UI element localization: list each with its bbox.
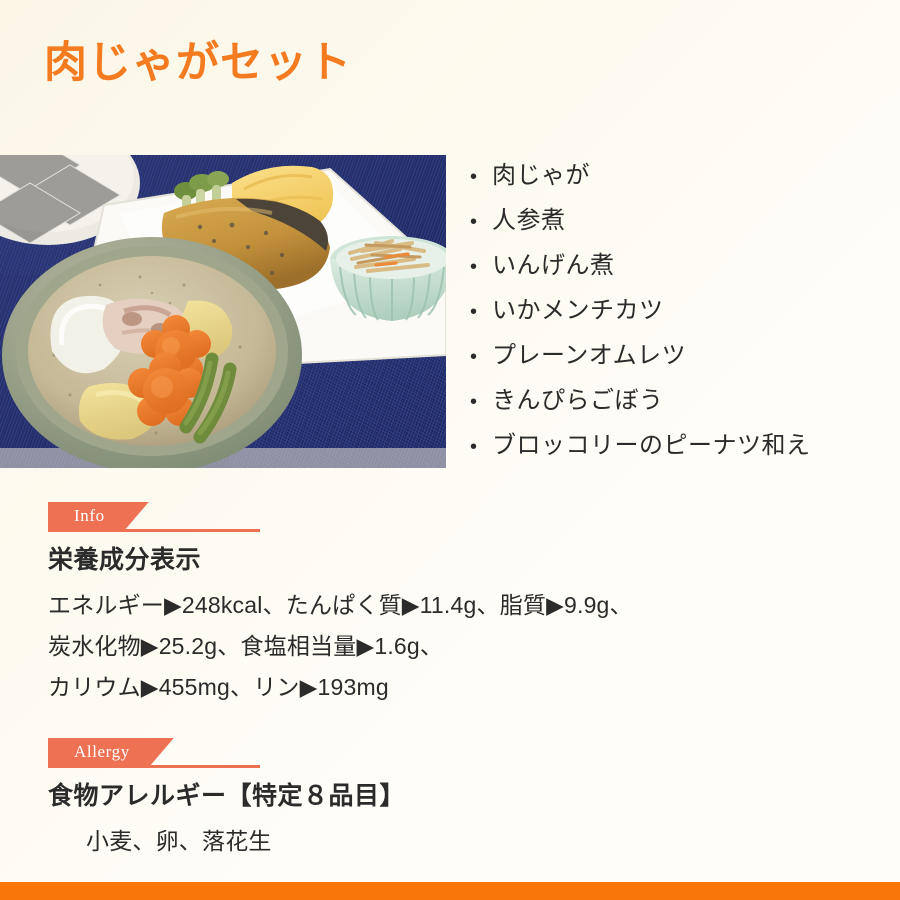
info-tag-underline [48,529,260,532]
list-item: • いんげん煮 [470,254,890,299]
list-item: • いかメンチカツ [470,299,890,344]
nutrition-section: Info 栄養成分表示 エネルギー▶248kcal、たんぱく質▶11.4g、脂質… [48,502,868,708]
allergy-section: Allergy 食物アレルギー【特定８品目】 小麦、卵、落花生 [48,738,868,862]
meal-photo-image [0,155,446,468]
nutrition-heading: 栄養成分表示 [48,545,868,576]
list-item: • 肉じゃが [470,164,890,209]
menu-item-label: 肉じゃが [492,164,590,188]
menu-item-list: • 肉じゃが • 人参煮 • いんげん煮 • いかメンチカツ • プレーンオムレ… [470,164,890,479]
bottom-accent-bar [0,882,900,900]
info-tag-row: Info [48,502,868,532]
product-info-card: 肉じゃがセット [0,0,900,900]
allergy-line: 小麦、卵、落花生 [48,821,868,862]
allergy-items: 小麦、卵、落花生 [48,821,868,862]
allergy-tag-row: Allergy [48,738,868,768]
bullet-icon: • [470,437,492,457]
menu-item-label: いんげん煮 [492,254,615,278]
meal-photo [0,155,446,468]
menu-item-label: プレーンオムレツ [492,344,686,368]
bullet-icon: • [470,392,492,412]
allergy-heading: 食物アレルギー【特定８品目】 [48,781,868,812]
list-item: • きんぴらごぼう [470,389,890,434]
list-item: • ブロッコリーのピーナツ和え [470,434,890,479]
bullet-icon: • [470,347,492,367]
bullet-icon: • [470,302,492,322]
info-tag-label: Info [48,502,149,530]
nutrition-line: エネルギー▶248kcal、たんぱく質▶11.4g、脂質▶9.9g、 [48,585,868,626]
allergy-tag-label: Allergy [48,738,174,766]
menu-item-label: いかメンチカツ [492,299,664,323]
list-item: • 人参煮 [470,209,890,254]
page-title: 肉じゃがセット [44,38,352,90]
menu-item-label: きんぴらごぼう [492,389,664,413]
nutrition-line: カリウム▶455mg、リン▶193mg [48,667,868,708]
allergy-tag-underline [48,765,260,768]
bullet-icon: • [470,257,492,277]
nutrition-line: 炭水化物▶25.2g、食塩相当量▶1.6g、 [48,626,868,667]
bullet-icon: • [470,212,492,232]
nutrition-values: エネルギー▶248kcal、たんぱく質▶11.4g、脂質▶9.9g、 炭水化物▶… [48,585,868,708]
menu-item-label: 人参煮 [492,209,566,233]
menu-item-label: ブロッコリーのピーナツ和え [492,434,811,458]
list-item: • プレーンオムレツ [470,344,890,389]
bullet-icon: • [470,167,492,187]
